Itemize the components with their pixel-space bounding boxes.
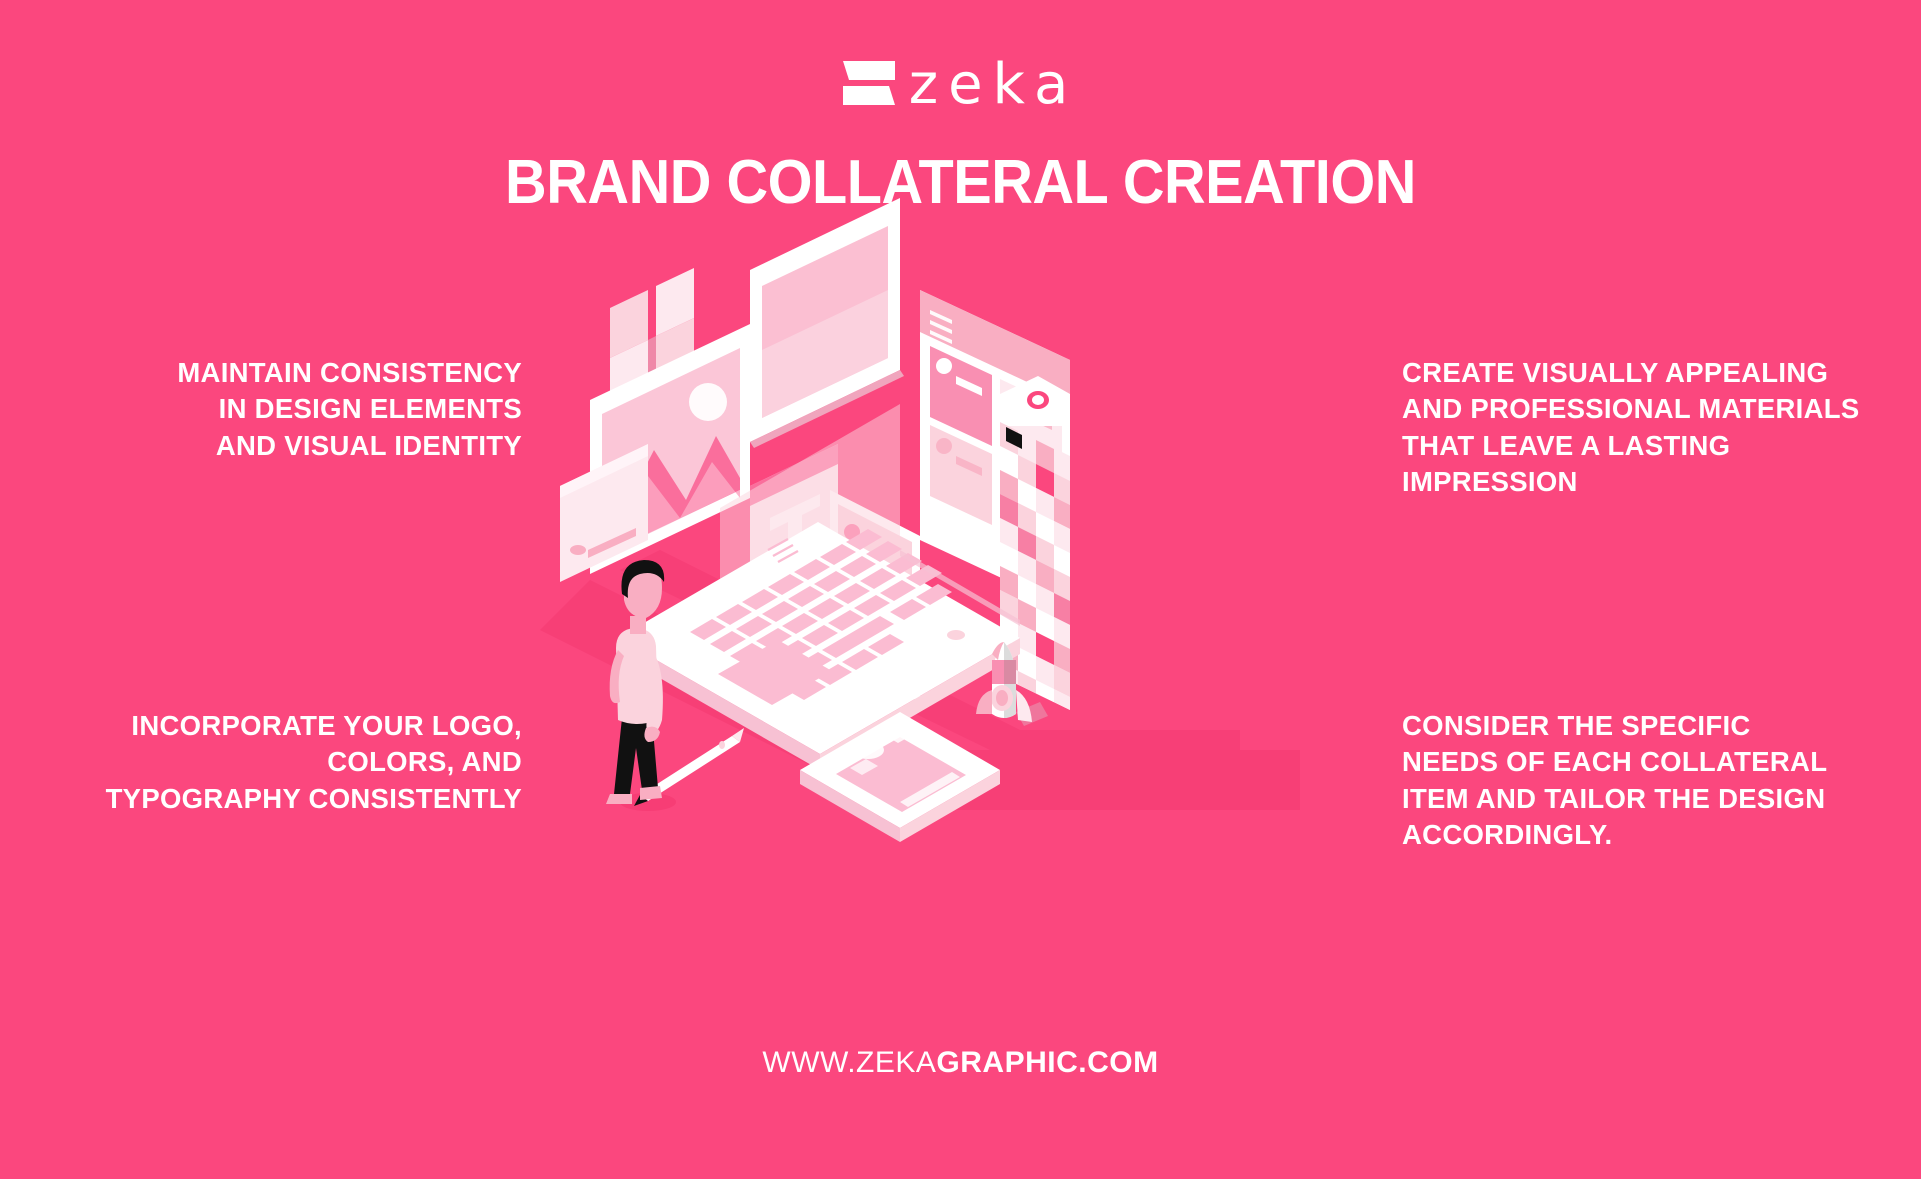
copy-line: IMPRESSION [1402,464,1912,500]
brand-logo: zeka [0,52,1921,114]
copy-block-top-right: CREATE VISUALLY APPEALING AND PROFESSION… [1402,355,1912,500]
copy-block-bottom-right: CONSIDER THE SPECIFIC NEEDS OF EACH COLL… [1402,708,1912,853]
person-hand [644,727,660,742]
rounded-screen-card [750,198,904,448]
copy-line: CONSIDER THE SPECIFIC [1402,708,1912,744]
copy-line: MAINTAIN CONSISTENCY [60,355,522,391]
copy-line: ACCORDINGLY. [1402,817,1912,853]
footer-url-prefix: WWW.ZEKA [762,1046,936,1079]
copy-line: IN DESIGN ELEMENTS [60,391,522,427]
copy-line: INCORPORATE YOUR LOGO, [40,708,522,744]
zeka-z-mark-icon [843,61,895,105]
copy-line: COLORS, AND [40,744,522,780]
page-title: BRAND COLLATERAL CREATION [67,152,1854,214]
brand-logo-text: zeka [909,57,1079,113]
copy-line: TYPOGRAPHY CONSISTENTLY [40,781,522,817]
copy-line: NEEDS OF EACH COLLATERAL [1402,744,1912,780]
poster-canvas: zeka BRAND COLLATERAL CREATION MAINTAIN … [0,0,1921,1179]
copy-line: AND PROFESSIONAL MATERIALS [1402,391,1912,427]
isometric-workspace-illustration [600,250,1340,950]
footer-url-suffix: GRAPHIC.COM [936,1046,1158,1079]
copy-line: CREATE VISUALLY APPEALING [1402,355,1912,391]
footer-website-url[interactable]: WWW.ZEKAGRAPHIC.COM [0,1046,1921,1080]
copy-line: THAT LEAVE A LASTING [1402,428,1912,464]
copy-block-bottom-left: INCORPORATE YOUR LOGO, COLORS, AND TYPOG… [40,708,522,817]
copy-line: AND VISUAL IDENTITY [60,428,522,464]
copy-block-top-left: MAINTAIN CONSISTENCY IN DESIGN ELEMENTS … [60,355,522,464]
copy-line: ITEM AND TAILOR THE DESIGN [1402,781,1912,817]
